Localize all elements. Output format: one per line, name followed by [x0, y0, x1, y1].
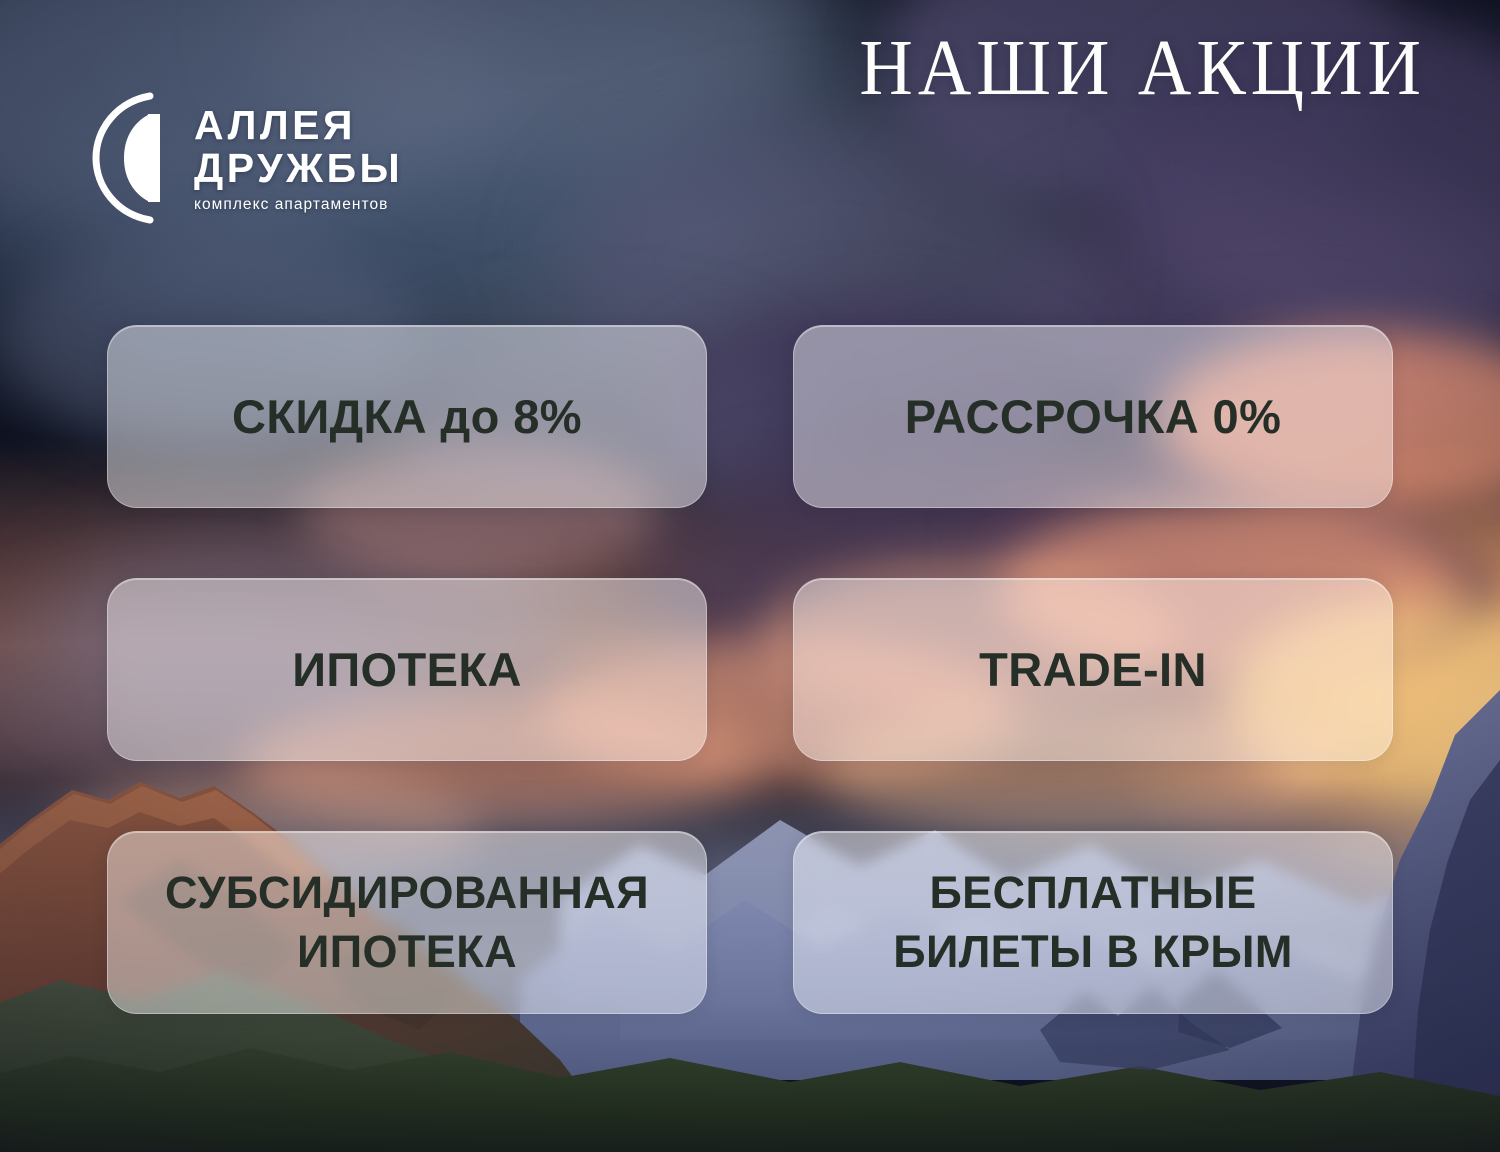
- promo-card-free-tickets[interactable]: БЕСПЛАТНЫЕ БИЛЕТЫ В КРЫМ: [793, 831, 1393, 1014]
- promo-card-discount[interactable]: СКИДКА до 8%: [107, 325, 707, 508]
- brand-name-line2: ДРУЖБЫ: [194, 147, 403, 189]
- promotions-grid: СКИДКА до 8% РАССРОЧКА 0% ИПОТЕКА TRADE-…: [107, 325, 1393, 1014]
- promo-label: РАССРОЧКА 0%: [905, 386, 1282, 447]
- promo-card-mortgage[interactable]: ИПОТЕКА: [107, 578, 707, 761]
- brand-tagline: комплекс апартаментов: [194, 196, 403, 214]
- promo-label: ИПОТЕКА: [292, 639, 522, 700]
- crescent-arc-mark-icon: [90, 88, 176, 228]
- promo-poster: АЛЛЕЯ ДРУЖБЫ комплекс апартаментов НАШИ …: [0, 0, 1500, 1152]
- promo-label: СКИДКА до 8%: [232, 386, 582, 447]
- promo-card-subsidized-mortgage[interactable]: СУБСИДИРОВАННАЯ ИПОТЕКА: [107, 831, 707, 1014]
- brand-name-line1: АЛЛЕЯ: [194, 104, 403, 146]
- promo-label: TRADE-IN: [979, 639, 1207, 700]
- promo-label: СУБСИДИРОВАННАЯ ИПОТЕКА: [165, 864, 649, 981]
- promo-label: БЕСПЛАТНЫЕ БИЛЕТЫ В КРЫМ: [893, 864, 1293, 981]
- brand-logo[interactable]: АЛЛЕЯ ДРУЖБЫ комплекс апартаментов: [90, 88, 403, 228]
- promo-card-trade-in[interactable]: TRADE-IN: [793, 578, 1393, 761]
- page-headline: НАШИ АКЦИИ: [859, 28, 1426, 108]
- promo-card-installment[interactable]: РАССРОЧКА 0%: [793, 325, 1393, 508]
